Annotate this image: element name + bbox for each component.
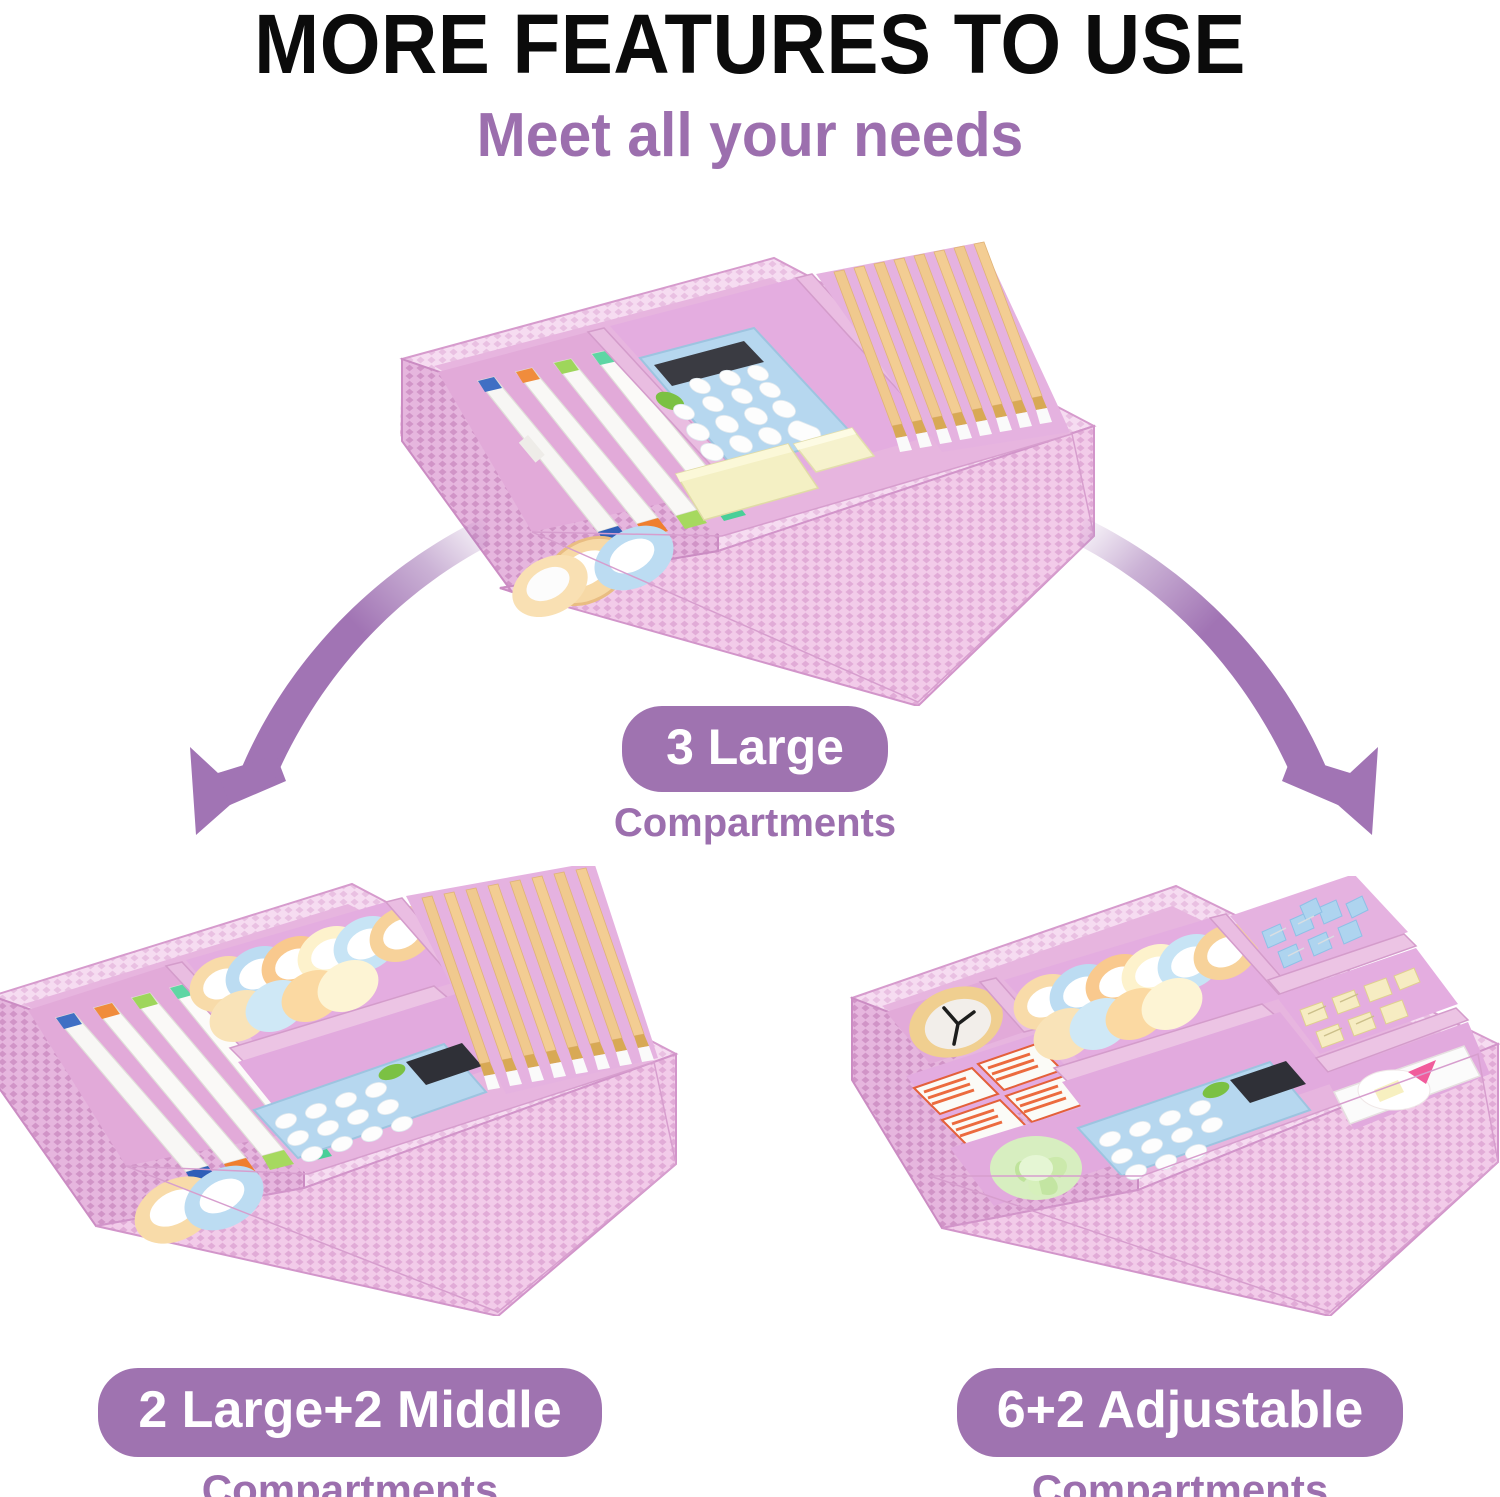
- badge-pill-label: 2 Large+2 Middle: [98, 1368, 601, 1457]
- infographic-page: MORE FEATURES TO USE Meet all your needs: [0, 0, 1500, 1497]
- badge-three-large: 3 Large Compartments: [425, 706, 1085, 846]
- badge-sub-label: Compartments: [840, 1466, 1500, 1497]
- tray-six-plus-two-adjustable-compartments: [838, 876, 1500, 1316]
- page-subtitle: Meet all your needs: [38, 100, 1463, 171]
- tray-two-large-two-middle-compartments: [0, 866, 686, 1316]
- badge-pill-label: 6+2 Adjustable: [957, 1368, 1404, 1457]
- badge-six-plus-two-adjustable: 6+2 Adjustable Compartments: [840, 1368, 1500, 1497]
- page-title: MORE FEATURES TO USE: [53, 0, 1448, 93]
- arrow-down-right-icon: [1070, 505, 1400, 845]
- badge-sub-label: Compartments: [0, 1466, 700, 1497]
- badge-pill-label: 3 Large: [622, 706, 888, 792]
- succulent-plant: [990, 1136, 1082, 1200]
- badge-two-large-two-middle: 2 Large+2 Middle Compartments: [0, 1368, 700, 1497]
- badge-sub-label: Compartments: [425, 801, 1085, 846]
